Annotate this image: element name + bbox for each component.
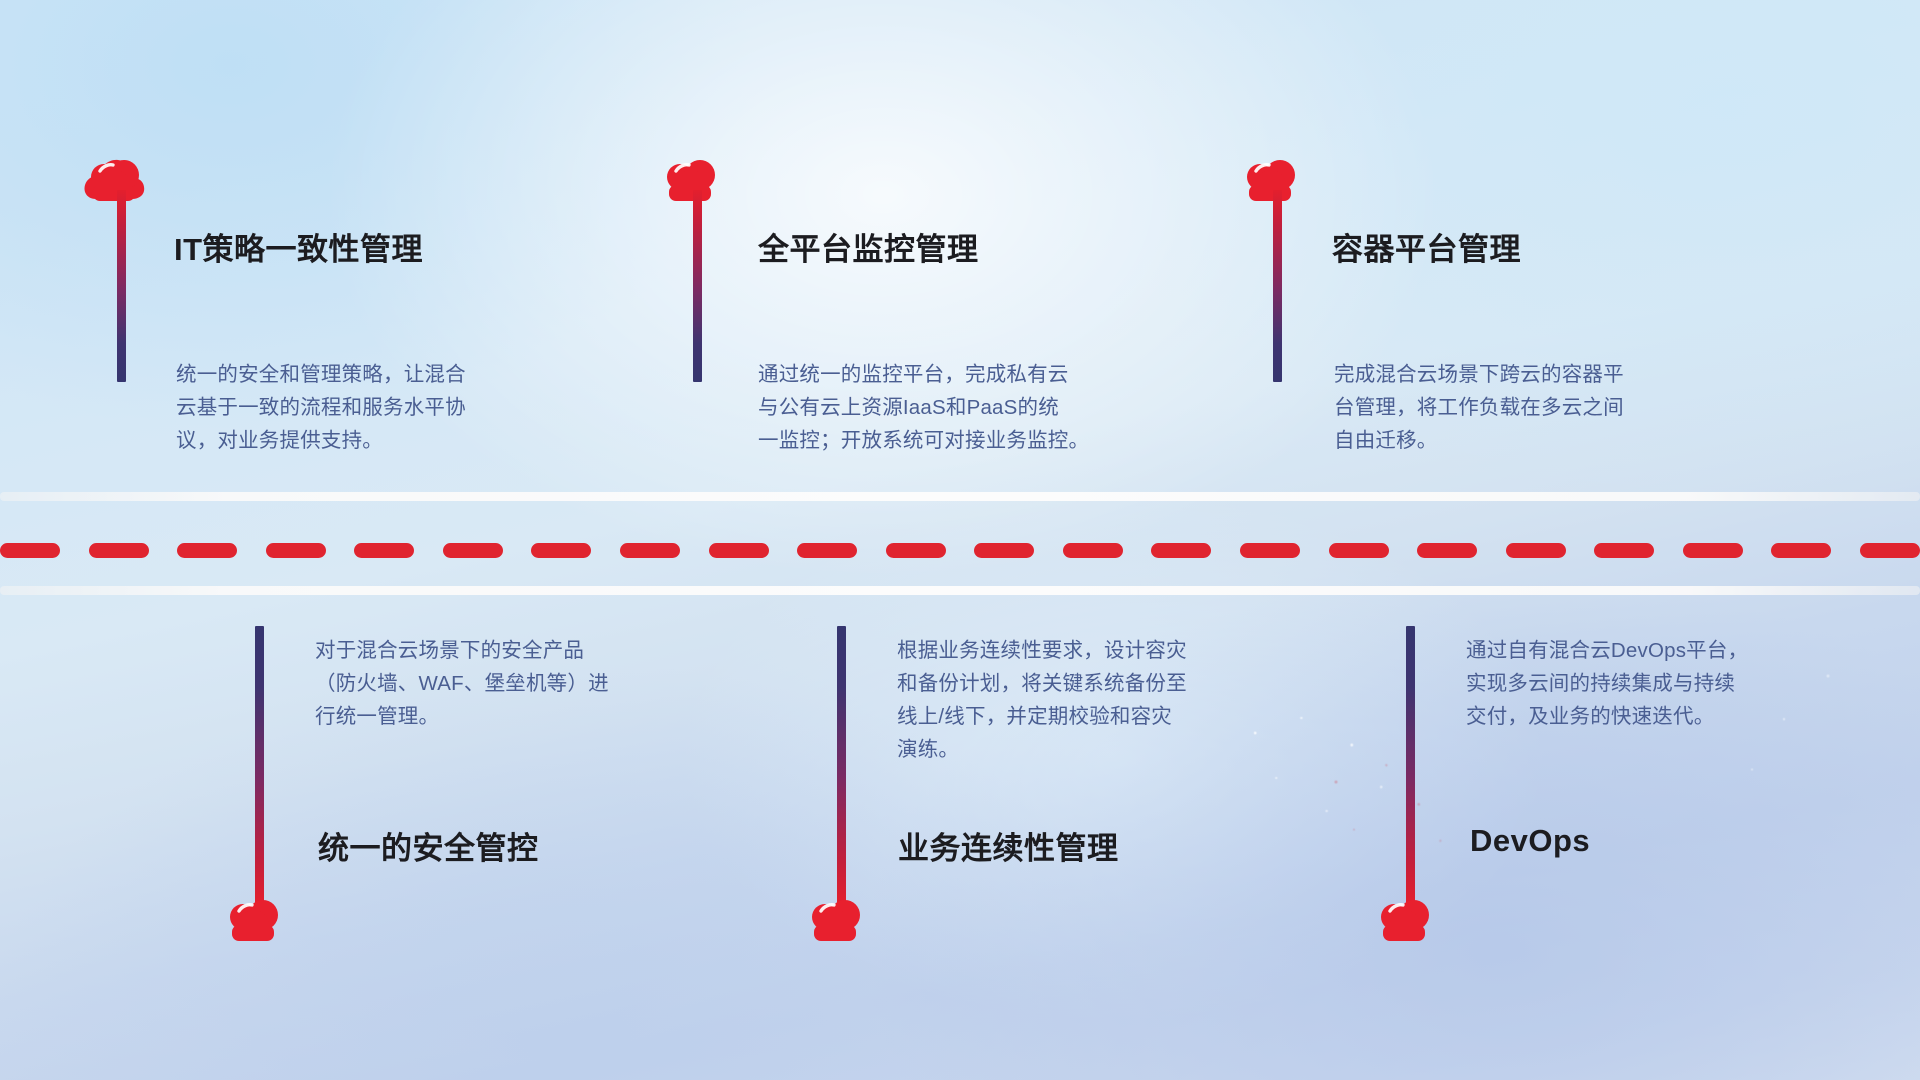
pin-stem-line	[117, 190, 126, 382]
description-line: （防火墙、WAF、堡垒机等）进	[315, 667, 609, 700]
road-divider	[0, 0, 1920, 1080]
column-description: 统一的安全和管理策略，让混合云基于一致的流程和服务水平协议，对业务提供支持。	[176, 358, 466, 457]
road-center-dashed-line	[0, 543, 1920, 558]
road-dash-segment	[1594, 543, 1654, 558]
pin-stem-line	[693, 190, 702, 382]
column-description: 通过统一的监控平台，完成私有云与公有云上资源IaaS和PaaS的统一监控；开放系…	[758, 358, 1089, 457]
cloud-icon	[1238, 155, 1302, 201]
description-line: 统一的安全和管理策略，让混合	[176, 358, 466, 391]
pin-stem-line	[837, 626, 846, 904]
road-dash-segment	[974, 543, 1034, 558]
description-line: 云基于一致的流程和服务水平协	[176, 391, 466, 424]
column-title: IT策略一致性管理	[174, 224, 423, 269]
description-line: 演练。	[897, 733, 1187, 766]
description-line: 线上/线下，并定期校验和容灾	[897, 700, 1187, 733]
road-dash-segment	[1771, 543, 1831, 558]
bokeh-texture-red	[1300, 740, 1480, 880]
road-dash-segment	[266, 543, 326, 558]
column-description: 根据业务连续性要求，设计容灾和备份计划，将关键系统备份至线上/线下，并定期校验和…	[897, 634, 1187, 766]
column-title: DevOps	[1470, 823, 1590, 859]
column-title: 统一的安全管控	[318, 823, 539, 868]
road-dash-segment	[89, 543, 149, 558]
column-description: 对于混合云场景下的安全产品（防火墙、WAF、堡垒机等）进行统一管理。	[315, 634, 609, 733]
road-dash-segment	[1151, 543, 1211, 558]
column-description: 完成混合云场景下跨云的容器平台管理，将工作负载在多云之间自由迁移。	[1334, 358, 1624, 457]
cloud-icon	[803, 895, 867, 941]
description-line: 对于混合云场景下的安全产品	[315, 634, 609, 667]
road-dash-segment	[0, 543, 60, 558]
column-title: 全平台监控管理	[758, 224, 979, 269]
pin-stem-line	[1406, 626, 1415, 904]
road-dash-segment	[1506, 543, 1566, 558]
cloud-icon	[658, 155, 722, 201]
road-edge-top-line	[0, 492, 1920, 501]
description-line: 交付，及业务的快速迭代。	[1466, 700, 1748, 733]
description-line: 和备份计划，将关键系统备份至	[897, 667, 1187, 700]
cloud-icon	[221, 895, 285, 941]
description-line: 通过自有混合云DevOps平台，	[1466, 634, 1748, 667]
description-line: 根据业务连续性要求，设计容灾	[897, 634, 1187, 667]
description-line: 一监控；开放系统可对接业务监控。	[758, 424, 1089, 457]
road-dash-segment	[886, 543, 946, 558]
pin-stem-line	[255, 626, 264, 904]
cloud-icon	[82, 155, 146, 201]
road-dash-segment	[177, 543, 237, 558]
road-dash-segment	[620, 543, 680, 558]
road-dash-segment	[531, 543, 591, 558]
column-description: 通过自有混合云DevOps平台，实现多云间的持续集成与持续交付，及业务的快速迭代…	[1466, 634, 1748, 733]
road-dash-segment	[1417, 543, 1477, 558]
road-dash-segment	[709, 543, 769, 558]
road-dash-segment	[443, 543, 503, 558]
infographic-canvas: IT策略一致性管理 统一的安全和管理策略，让混合云基于一致的流程和服务水平协议，…	[0, 0, 1920, 1080]
description-line: 自由迁移。	[1334, 424, 1624, 457]
road-dash-segment	[354, 543, 414, 558]
description-line: 完成混合云场景下跨云的容器平	[1334, 358, 1624, 391]
road-dash-segment	[1860, 543, 1920, 558]
cloud-icon	[1372, 895, 1436, 941]
column-title: 业务连续性管理	[898, 823, 1119, 868]
description-line: 实现多云间的持续集成与持续	[1466, 667, 1748, 700]
column-title: 容器平台管理	[1332, 224, 1521, 269]
road-edge-bottom-line	[0, 586, 1920, 595]
road-dash-segment	[797, 543, 857, 558]
road-dash-segment	[1063, 543, 1123, 558]
description-line: 议，对业务提供支持。	[176, 424, 466, 457]
description-line: 台管理，将工作负载在多云之间	[1334, 391, 1624, 424]
description-line: 通过统一的监控平台，完成私有云	[758, 358, 1089, 391]
road-dash-segment	[1329, 543, 1389, 558]
description-line: 与公有云上资源IaaS和PaaS的统	[758, 391, 1089, 424]
pin-stem-line	[1273, 190, 1282, 382]
road-dash-segment	[1240, 543, 1300, 558]
description-line: 行统一管理。	[315, 700, 609, 733]
road-dash-segment	[1683, 543, 1743, 558]
